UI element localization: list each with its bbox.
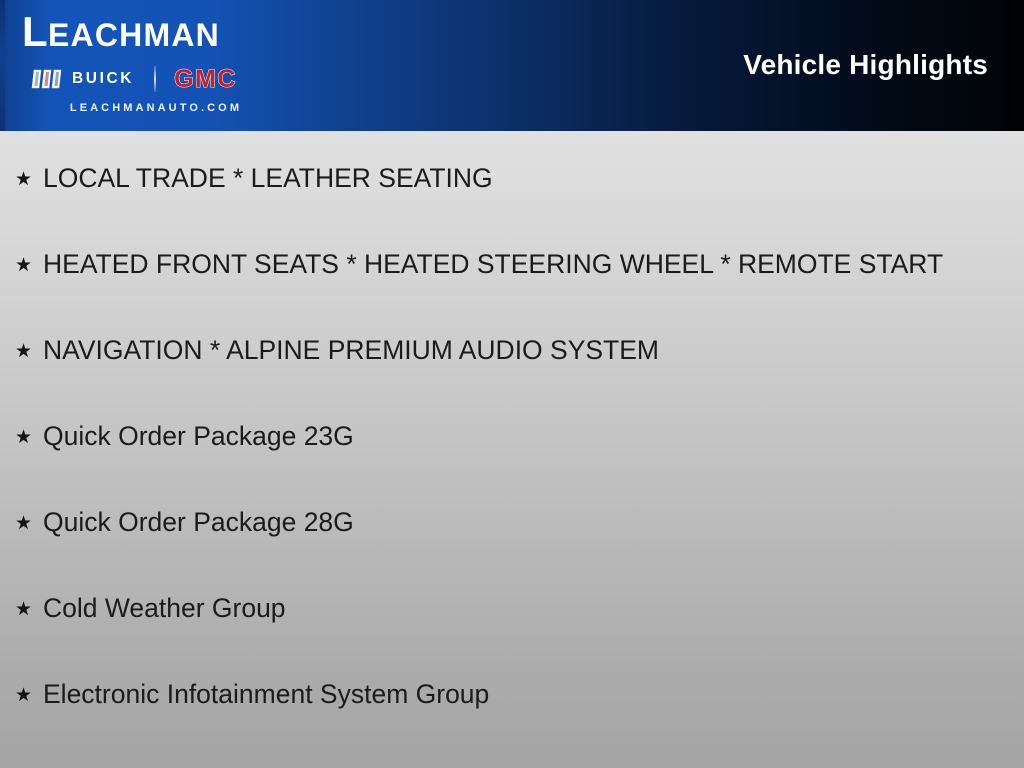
list-item: ★ Electronic Infotainment System Group bbox=[0, 647, 1024, 733]
star-bullet-icon: ★ bbox=[15, 686, 32, 705]
list-item-label: Cold Weather Group bbox=[43, 561, 954, 626]
dealer-website-url[interactable]: LEACHMANAUTO.COM bbox=[22, 102, 290, 114]
header-left-edge bbox=[0, 0, 5, 131]
list-item-label: HEATED FRONT SEATS * HEATED STEERING WHE… bbox=[43, 217, 954, 282]
list-item-label: Electronic Infotainment System Group bbox=[43, 647, 954, 712]
list-item-label: NAVIGATION * ALPINE PREMIUM AUDIO SYSTEM bbox=[43, 303, 954, 368]
svg-text:L: L bbox=[22, 10, 48, 55]
star-bullet-icon: ★ bbox=[15, 170, 32, 189]
buick-badge: BUICK bbox=[30, 68, 134, 90]
brand-badge-row: BUICK GMC bbox=[30, 64, 284, 94]
dealer-header-banner: L EACHMAN BUICK bbox=[0, 0, 1024, 131]
list-item-label: Quick Order Package 23G bbox=[43, 389, 954, 454]
gmc-label: GMC bbox=[174, 67, 237, 92]
star-bullet-icon: ★ bbox=[15, 600, 32, 619]
list-item: ★ LOCAL TRADE * LEATHER SEATING bbox=[0, 131, 1024, 217]
leachman-wordmark-icon: L EACHMAN bbox=[22, 10, 290, 56]
vehicle-highlights-page: L EACHMAN BUICK bbox=[0, 0, 1024, 768]
buick-label: BUICK bbox=[72, 71, 134, 87]
svg-text:EACHMAN: EACHMAN bbox=[48, 17, 220, 53]
star-bullet-icon: ★ bbox=[15, 256, 32, 275]
star-bullet-icon: ★ bbox=[15, 514, 32, 533]
list-item: ★ Quick Order Package 23G bbox=[0, 389, 1024, 475]
list-item: ★ HEATED FRONT SEATS * HEATED STEERING W… bbox=[0, 217, 1024, 303]
gmc-badge: GMC bbox=[174, 67, 237, 92]
vehicle-highlights-list: ★ LOCAL TRADE * LEATHER SEATING ★ HEATED… bbox=[0, 131, 1024, 733]
page-title: Vehicle Highlights bbox=[743, 49, 988, 81]
list-item-label: Quick Order Package 28G bbox=[43, 475, 954, 540]
list-item: ★ Quick Order Package 28G bbox=[0, 475, 1024, 561]
buick-trishield-icon bbox=[30, 68, 64, 90]
list-item: ★ NAVIGATION * ALPINE PREMIUM AUDIO SYST… bbox=[0, 303, 1024, 389]
list-item-label: LOCAL TRADE * LEATHER SEATING bbox=[43, 131, 954, 196]
dealer-logo[interactable]: L EACHMAN BUICK bbox=[22, 10, 290, 122]
star-bullet-icon: ★ bbox=[15, 428, 32, 447]
star-bullet-icon: ★ bbox=[15, 342, 32, 361]
list-item: ★ Cold Weather Group bbox=[0, 561, 1024, 647]
badge-divider bbox=[154, 66, 156, 92]
